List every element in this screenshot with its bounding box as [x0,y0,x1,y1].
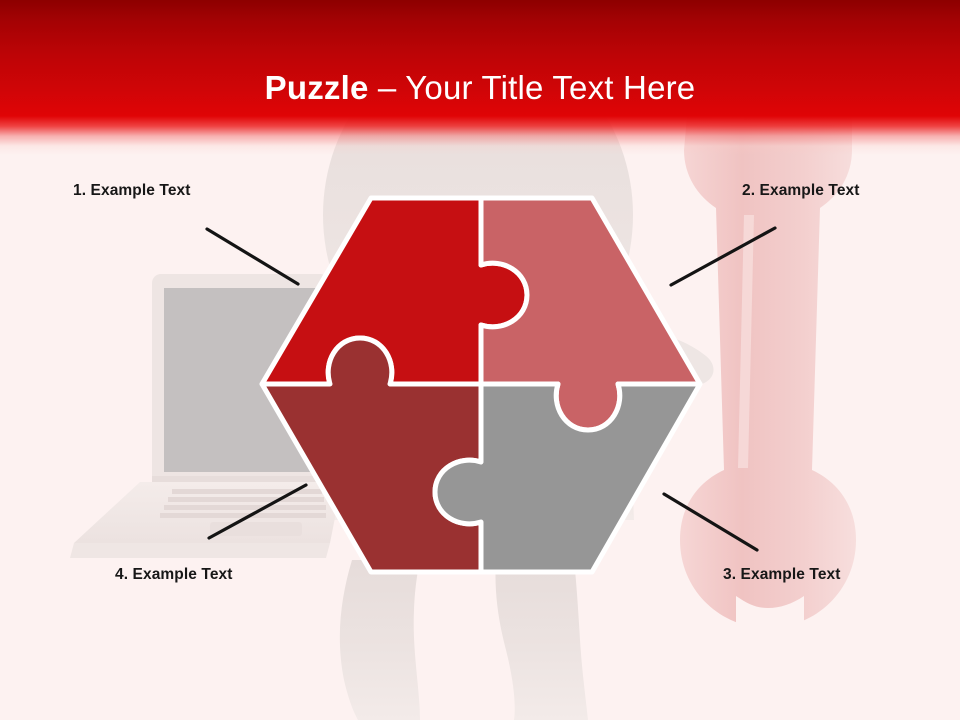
callout-label-2[interactable]: 2. Example Text [742,182,860,200]
title-rest-part: – Your Title Text Here [369,69,696,106]
page-title: Puzzle – Your Title Text Here [0,68,960,108]
callout-label-1[interactable]: 1. Example Text [73,182,191,200]
callout-label-4[interactable]: 4. Example Text [115,566,233,584]
slide-canvas: Puzzle – Your Title Text Here 1. Example… [0,0,960,720]
title-bold-part: Puzzle [265,69,369,106]
callout-label-3[interactable]: 3. Example Text [723,566,841,584]
